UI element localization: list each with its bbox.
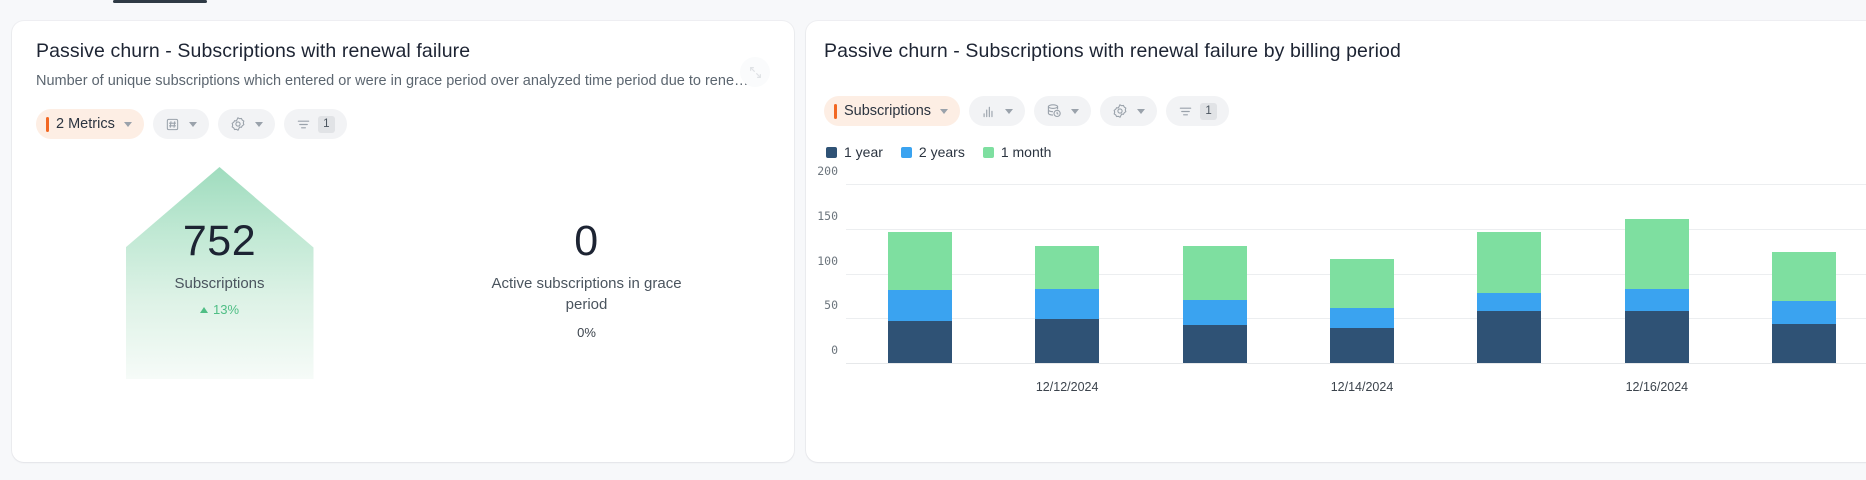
bar-segment[interactable] xyxy=(888,290,952,321)
chart-legend: 1 year2 years1 month xyxy=(826,144,1051,160)
metric-value: 752 xyxy=(36,219,403,264)
bar-segment[interactable] xyxy=(1625,289,1689,311)
filter-chip[interactable]: 1 xyxy=(284,109,347,139)
bar-stack[interactable] xyxy=(1183,185,1247,364)
chevron-down-icon xyxy=(940,109,948,114)
bar-segment[interactable] xyxy=(1183,246,1247,301)
bar-stack[interactable] xyxy=(1330,185,1394,364)
legend-swatch-icon xyxy=(826,147,837,158)
metrics-chip[interactable]: 2 Metrics xyxy=(36,109,144,139)
chart-x-axis-line xyxy=(846,363,1866,364)
y-axis-tick-label: 50 xyxy=(824,298,838,312)
metric-subvalue: 0% xyxy=(403,325,770,340)
bar-segment[interactable] xyxy=(1625,311,1689,364)
bar-segment[interactable] xyxy=(1625,219,1689,289)
bar-segment[interactable] xyxy=(1477,232,1541,294)
legend-label: 2 years xyxy=(919,144,965,160)
orange-bar-icon xyxy=(834,104,837,119)
chart-title: Passive churn - Subscriptions with renew… xyxy=(824,40,1864,63)
metrics-chip-label: 2 Metrics xyxy=(56,116,115,132)
metric-label: Active subscriptions in grace period xyxy=(472,273,702,316)
y-axis-tick-label: 100 xyxy=(817,254,838,268)
left-card-header: Passive churn - Subscriptions with renew… xyxy=(36,40,766,89)
y-axis-tick-label: 200 xyxy=(817,164,838,178)
metric-label: Subscriptions xyxy=(36,273,403,294)
settings-chip[interactable] xyxy=(218,109,275,139)
bar-segment[interactable] xyxy=(888,232,952,290)
chevron-down-icon xyxy=(255,122,263,127)
gear-icon xyxy=(230,116,246,132)
metrics-row: 752 Subscriptions 13% 0 Active subscript… xyxy=(36,161,770,411)
left-card-toolbar: 2 Metrics xyxy=(36,109,347,139)
orange-bar-icon xyxy=(46,117,49,132)
bar-segment[interactable] xyxy=(1183,325,1247,364)
chevron-down-icon xyxy=(1005,109,1013,114)
billing-period-chart-card: Passive churn - Subscriptions with renew… xyxy=(806,21,1866,462)
chart-plot-area: 050100150200 12/12/202412/14/202412/16/2… xyxy=(846,185,1866,364)
legend-item[interactable]: 1 month xyxy=(983,144,1052,160)
legend-swatch-icon xyxy=(983,147,994,158)
right-card-header: Passive churn - Subscriptions with renew… xyxy=(824,40,1864,63)
tab-strip xyxy=(0,0,1866,12)
chart-type-chip[interactable] xyxy=(969,96,1025,126)
chevron-down-icon xyxy=(1071,109,1079,114)
filter-icon xyxy=(1178,104,1193,119)
bar-segment[interactable] xyxy=(1772,252,1836,301)
bar-segment[interactable] xyxy=(1330,259,1394,307)
dimension-chip-label: Subscriptions xyxy=(844,103,931,119)
dashboard-page: Passive churn - Subscriptions with renew… xyxy=(0,0,1866,480)
legend-swatch-icon xyxy=(901,147,912,158)
metric-grace-period[interactable]: 0 Active subscriptions in grace period 0… xyxy=(403,161,770,340)
metric-value: 0 xyxy=(403,219,770,264)
right-card-toolbar: Subscriptions xyxy=(824,96,1229,126)
bar-segment[interactable] xyxy=(1183,300,1247,324)
x-axis-tick-label: 12/12/2024 xyxy=(1036,380,1099,394)
bar-segment[interactable] xyxy=(1330,308,1394,329)
bar-segment[interactable] xyxy=(1772,324,1836,364)
settings-chip[interactable] xyxy=(1100,96,1157,126)
bar-stack[interactable] xyxy=(1035,185,1099,364)
x-axis-tick-label: 12/14/2024 xyxy=(1331,380,1394,394)
filter-count-badge: 1 xyxy=(318,116,335,133)
bar-stack[interactable] xyxy=(1477,185,1541,364)
bar-chart-icon xyxy=(981,104,996,119)
database-clock-icon xyxy=(1046,103,1062,119)
filter-icon xyxy=(296,117,311,132)
page-title: Passive churn - Subscriptions with renew… xyxy=(36,40,766,63)
data-source-chip[interactable] xyxy=(1034,96,1091,126)
bar-stack[interactable] xyxy=(1625,185,1689,364)
bar-segment[interactable] xyxy=(1035,246,1099,289)
gear-icon xyxy=(1112,103,1128,119)
number-format-chip[interactable] xyxy=(153,109,209,139)
chevron-down-icon xyxy=(124,122,132,127)
chart-bars xyxy=(846,185,1866,364)
filter-chip[interactable]: 1 xyxy=(1166,96,1229,126)
expand-icon[interactable] xyxy=(740,57,770,87)
card-description: Number of unique subscriptions which ent… xyxy=(36,73,766,89)
bar-stack[interactable] xyxy=(888,185,952,364)
chevron-down-icon xyxy=(189,122,197,127)
metric-delta-value: 13% xyxy=(213,302,239,317)
stacked-bar-chart: 050100150200 12/12/202412/14/202412/16/2… xyxy=(806,171,1866,406)
bar-segment[interactable] xyxy=(1477,293,1541,311)
x-axis-tick-label: 12/16/2024 xyxy=(1626,380,1689,394)
y-axis-tick-label: 150 xyxy=(817,209,838,223)
bar-segment[interactable] xyxy=(1035,319,1099,364)
arrow-up-icon xyxy=(200,307,208,313)
hash-box-icon xyxy=(165,117,180,132)
bar-segment[interactable] xyxy=(1330,328,1394,364)
bar-segment[interactable] xyxy=(888,321,952,364)
legend-item[interactable]: 1 year xyxy=(826,144,883,160)
active-tab-indicator[interactable] xyxy=(113,0,207,3)
bar-stack[interactable] xyxy=(1772,185,1836,364)
metric-subscriptions[interactable]: 752 Subscriptions 13% xyxy=(36,161,403,317)
bar-segment[interactable] xyxy=(1772,301,1836,323)
passive-churn-metric-card: Passive churn - Subscriptions with renew… xyxy=(12,21,794,462)
legend-item[interactable]: 2 years xyxy=(901,144,965,160)
chevron-down-icon xyxy=(1137,109,1145,114)
bar-segment[interactable] xyxy=(1035,289,1099,319)
filter-count-badge: 1 xyxy=(1200,103,1217,120)
bar-segment[interactable] xyxy=(1477,311,1541,364)
dimension-chip[interactable]: Subscriptions xyxy=(824,96,960,126)
metric-delta: 13% xyxy=(36,302,403,317)
y-axis-tick-label: 0 xyxy=(831,343,838,357)
legend-label: 1 year xyxy=(844,144,883,160)
legend-label: 1 month xyxy=(1001,144,1052,160)
